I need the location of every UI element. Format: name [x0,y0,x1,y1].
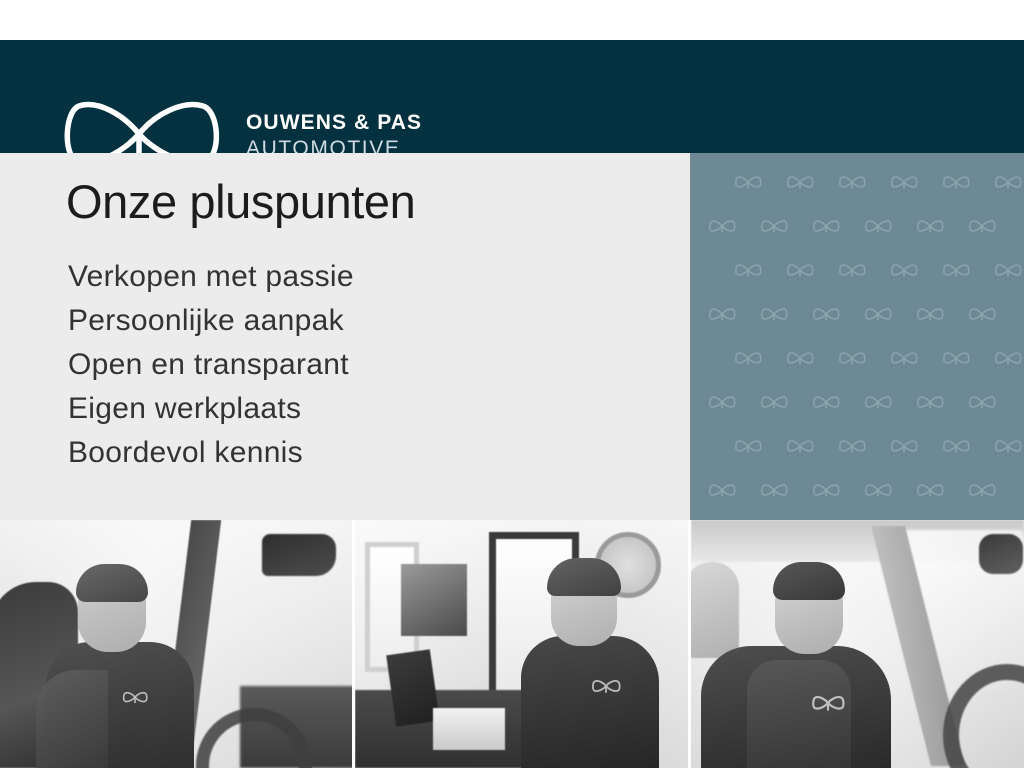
wall-picture [401,564,467,636]
rear-view-mirror [979,534,1023,574]
person-torso [521,636,659,768]
brand-name: OUWENS & PAS [246,112,422,133]
person-hair [773,562,845,600]
person-shoulder [36,670,108,768]
benefits-list: Verkopen met passie Persoonlijke aanpak … [68,255,354,475]
photo-strip [0,520,1024,768]
shirt-bowtie-logo-icon [122,690,148,706]
list-item: Boordevol kennis [68,431,354,475]
shirt-bowtie-logo-icon [591,678,621,696]
rear-view-mirror [262,534,336,576]
page-title: Onze pluspunten [66,174,415,229]
content-panel: Onze pluspunten Verkopen met passie Pers… [0,153,690,521]
slide-canvas: OUWENS & PAS AUTOMOTIVE Onze pluspunten … [0,0,1024,768]
photo-mechanic-in-car [691,520,1024,768]
person-hair [76,564,148,602]
bowtie-watermark-pattern-icon [690,153,1024,520]
desk-keyboard [433,708,505,750]
photo-advisor-at-desk [355,520,688,768]
accent-panel [690,153,1024,520]
list-item: Persoonlijke aanpak [68,299,354,343]
photo-salesman-in-car [0,520,352,768]
header-bar: OUWENS & PAS AUTOMOTIVE [0,40,1024,153]
person-hair [547,558,621,596]
shirt-bowtie-logo-icon [811,694,845,714]
list-item: Open en transparant [68,343,354,387]
brand-wordmark: OUWENS & PAS AUTOMOTIVE [246,112,422,159]
list-item: Eigen werkplaats [68,387,354,431]
list-item: Verkopen met passie [68,255,354,299]
person-vest [747,660,851,768]
car-headrest [691,562,739,658]
